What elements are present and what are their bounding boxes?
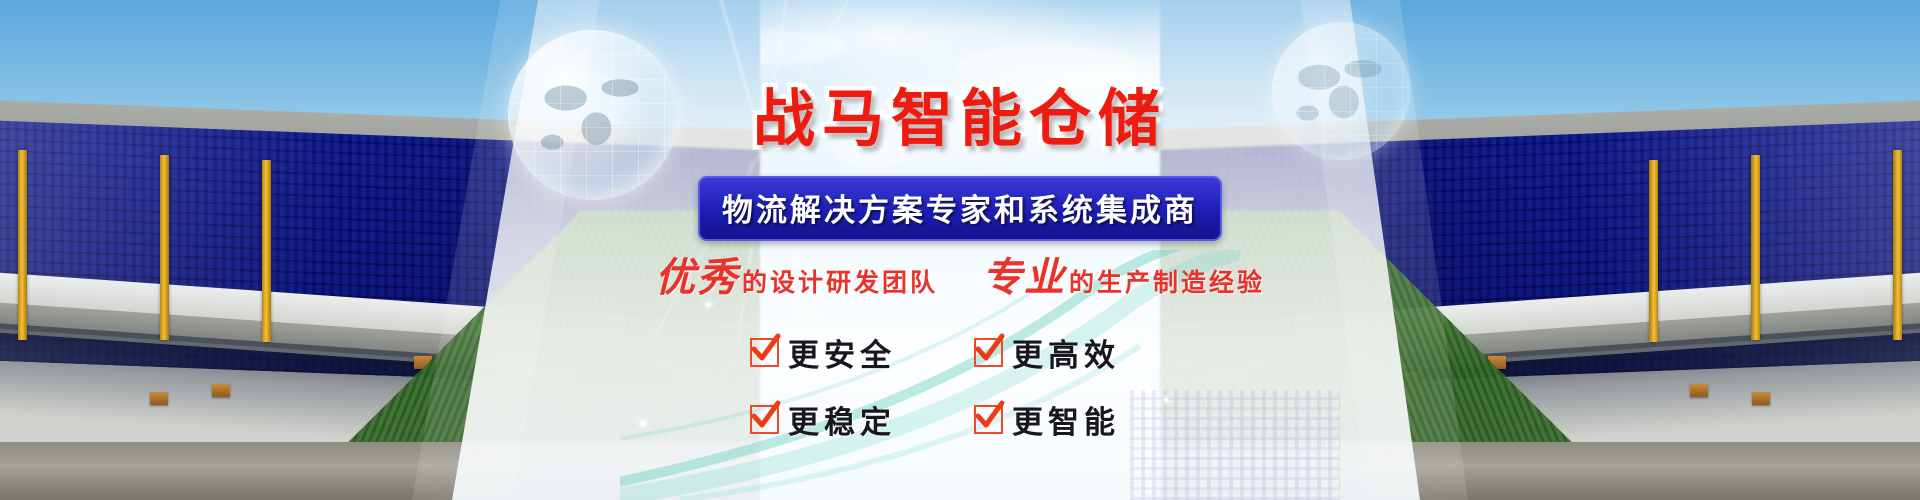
feature-row: 更安全 更高效	[0, 330, 1920, 375]
promotional-banner: 战马智能仓储 物流解决方案专家和系统集成商 优秀 的设计研发团队 专业 的生产制…	[0, 0, 1920, 500]
slogan-emphasis: 优秀	[655, 258, 739, 298]
subtitle-bar-text: 物流解决方案专家和系统集成商	[722, 193, 1198, 229]
banner-title: 战马智能仓储	[0, 86, 1920, 151]
slogan-row: 优秀 的设计研发团队 专业 的生产制造经验	[0, 258, 1920, 298]
slogan-rest: 的设计研发团队	[742, 267, 938, 298]
slogan-item: 优秀 的设计研发团队	[655, 258, 938, 298]
feature-label: 更高效	[1012, 330, 1120, 375]
subtitle-bar: 物流解决方案专家和系统集成商	[698, 176, 1222, 241]
feature-label: 更安全	[788, 330, 896, 375]
slogan-rest: 的生产制造经验	[1069, 267, 1265, 298]
slogan-item: 专业 的生产制造经验	[982, 258, 1265, 298]
slogan-emphasis: 专业	[982, 258, 1066, 298]
checkbox-checked-icon	[974, 405, 1003, 434]
feature-item: 更高效	[974, 330, 1170, 375]
feature-list: 更安全 更高效 更稳定	[0, 330, 1920, 464]
checkbox-checked-icon	[750, 405, 779, 434]
feature-row: 更稳定 更智能	[0, 397, 1920, 442]
banner-content: 战马智能仓储 物流解决方案专家和系统集成商 优秀 的设计研发团队 专业 的生产制…	[0, 0, 1920, 500]
feature-item: 更智能	[974, 397, 1170, 442]
feature-label: 更智能	[1012, 397, 1120, 442]
feature-label: 更稳定	[788, 397, 896, 442]
feature-item: 更稳定	[750, 397, 946, 442]
feature-item: 更安全	[750, 330, 946, 375]
checkbox-checked-icon	[974, 338, 1003, 367]
checkbox-checked-icon	[750, 338, 779, 367]
